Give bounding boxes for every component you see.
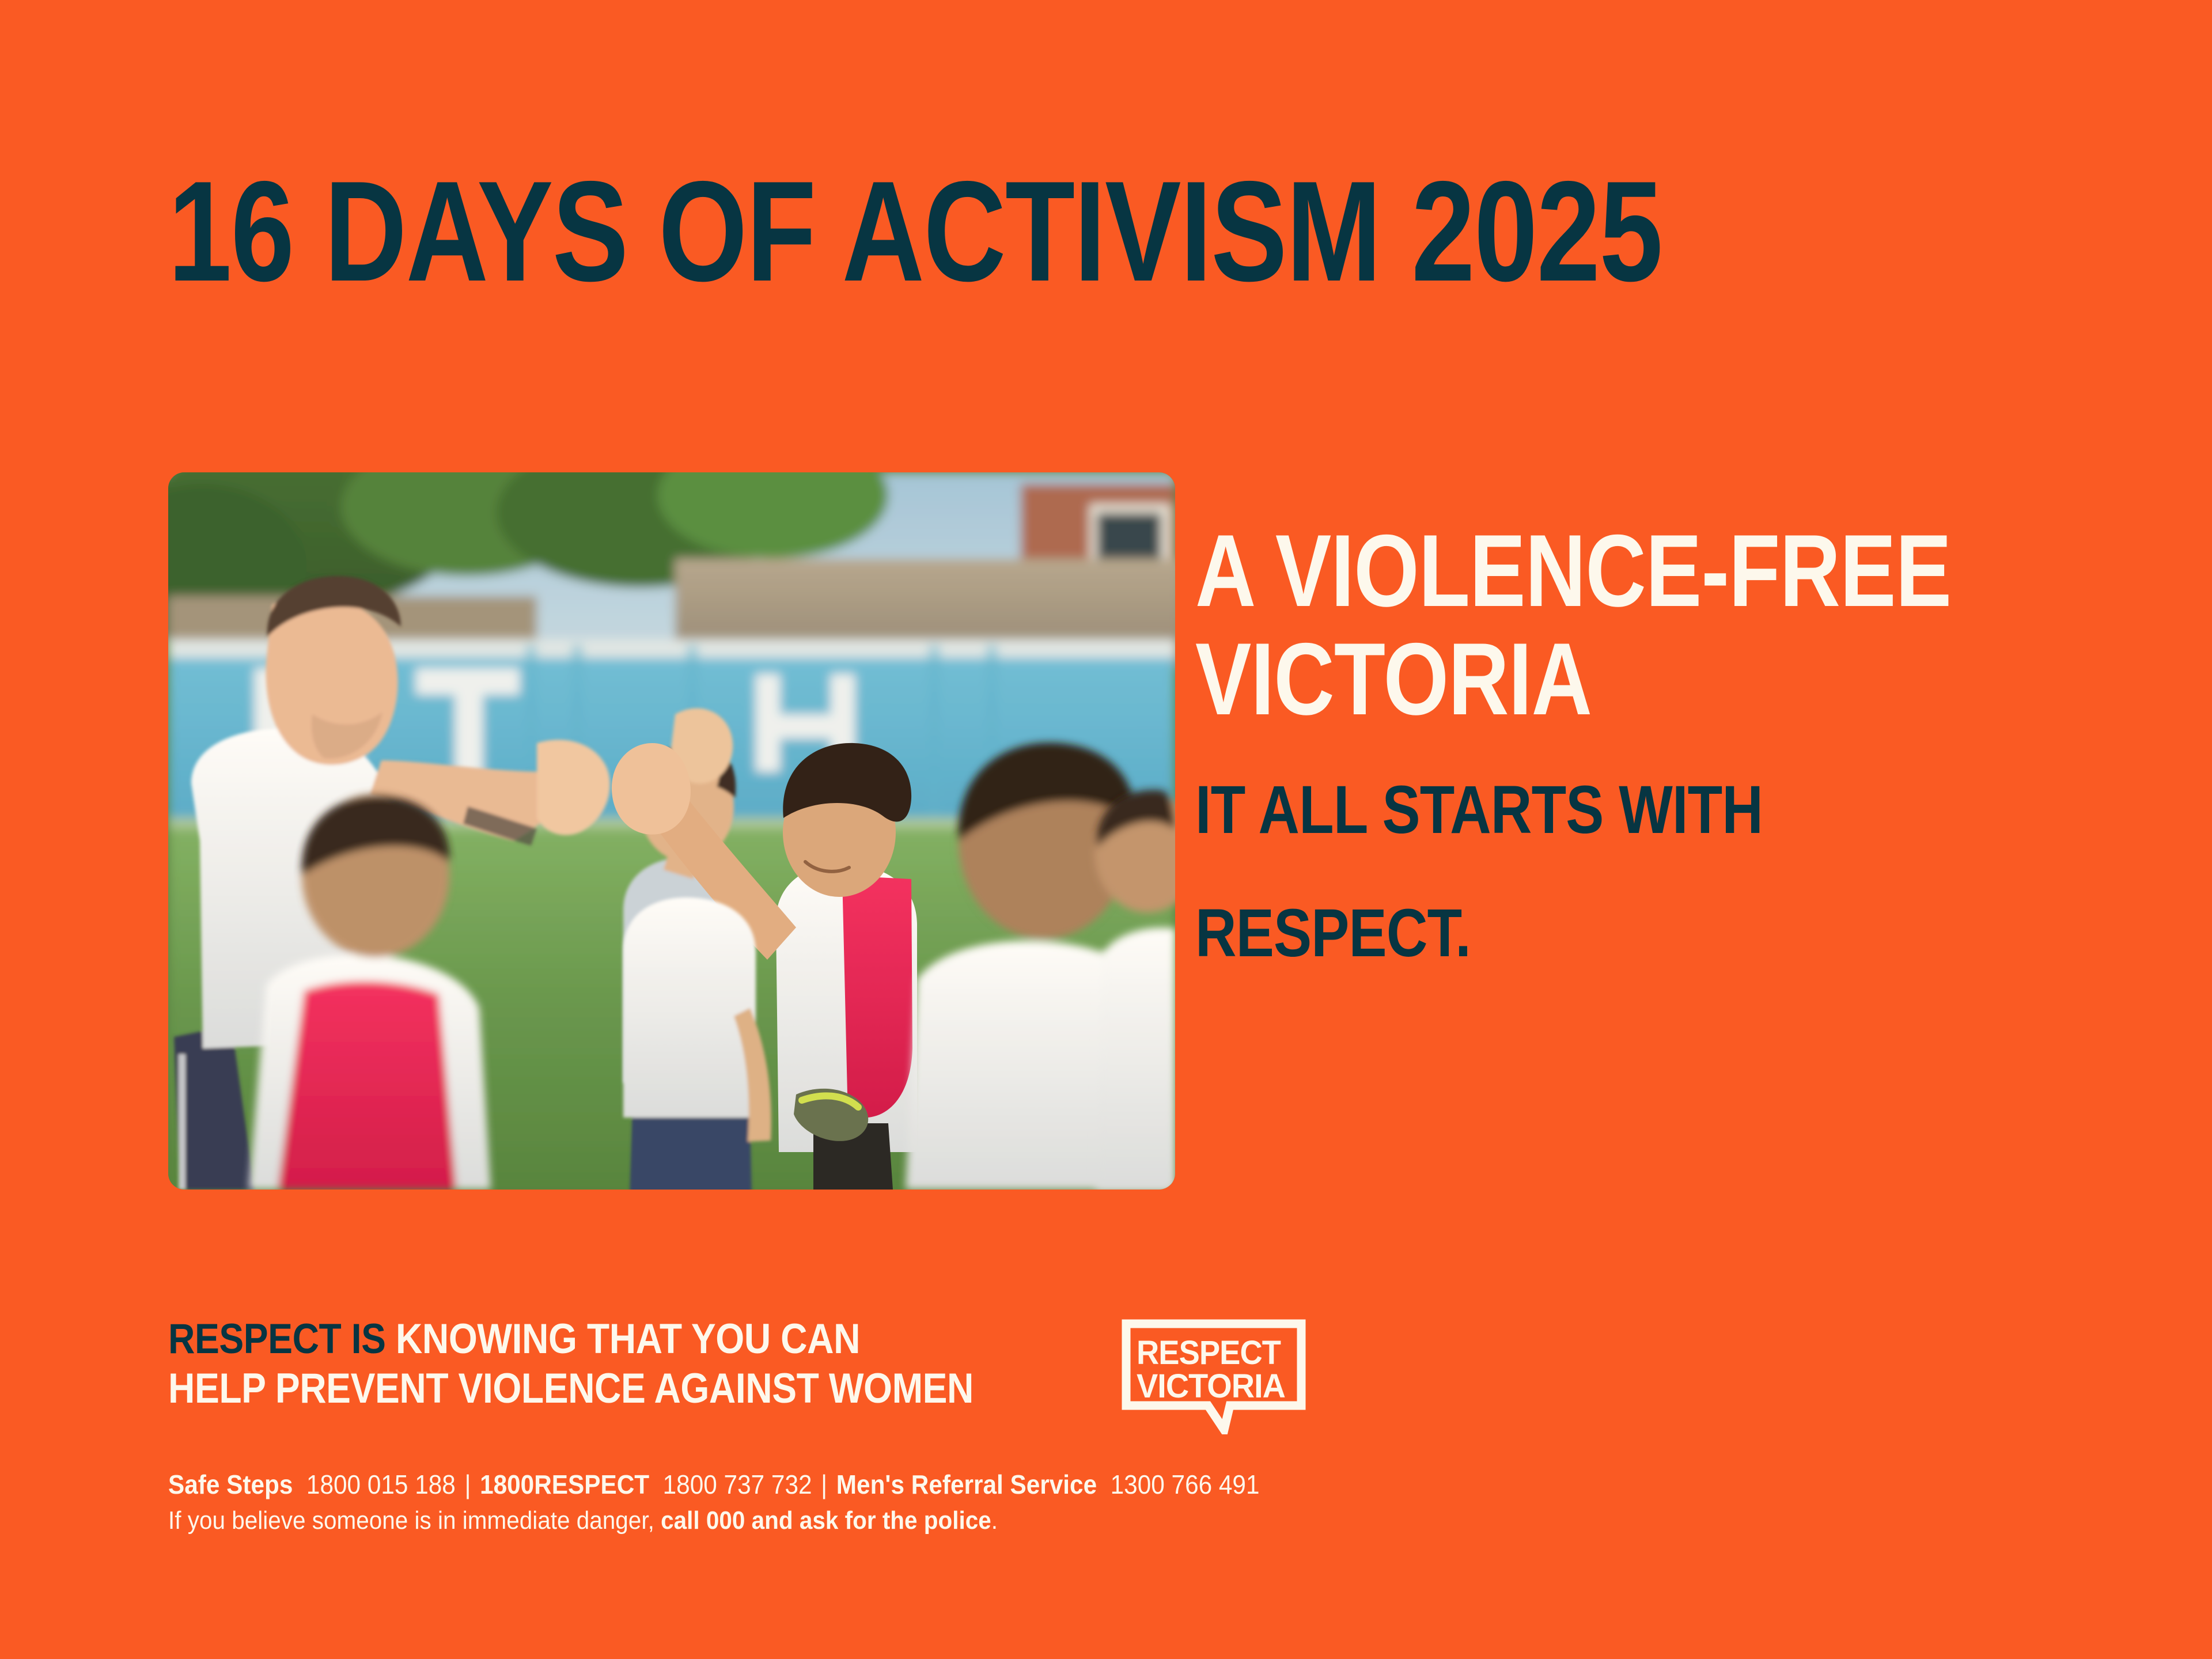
message-block: A VIOLENCE-FREE VICTORIA IT ALL STARTS W…: [1195, 518, 2175, 967]
footer-emergency-line: If you believe someone is in immediate d…: [168, 1504, 1493, 1537]
emergency-bold: call 000 and ask for the police: [661, 1506, 991, 1535]
strapline-lead: RESPECT IS: [168, 1316, 386, 1362]
service-name-1800respect: 1800RESPECT: [480, 1469, 649, 1499]
campaign-photo: [168, 472, 1175, 1190]
footer-services-line: Safe Steps 1800 015 188|1800RESPECT 1800…: [168, 1468, 1493, 1502]
footer-separator-1: |: [456, 1468, 480, 1502]
page-title: 16 DAYS OF ACTIVISM 2025: [168, 173, 1662, 290]
service-name-safe-steps: Safe Steps: [168, 1469, 293, 1499]
poster-canvas: 16 DAYS OF ACTIVISM 2025: [0, 0, 2212, 1659]
message-cream-line-1: A VIOLENCE-FREE: [1195, 518, 1998, 623]
message-dark-line-1: IT ALL STARTS WITH: [1195, 776, 2018, 844]
logo-line-2: VICTORIA: [1137, 1368, 1285, 1405]
logo-line-1: RESPECT: [1137, 1334, 1281, 1372]
strapline: RESPECT IS KNOWING THAT YOU CAN HELP PRE…: [168, 1315, 1030, 1414]
emergency-prefix: If you believe someone is in immediate d…: [168, 1506, 661, 1535]
emergency-suffix: .: [991, 1506, 998, 1535]
strapline-line-2: HELP PREVENT VIOLENCE AGAINST WOMEN: [168, 1364, 1030, 1414]
respect-victoria-logo[interactable]: RESPECT VICTORIA: [1122, 1319, 1320, 1434]
strapline-rest-1-text: KNOWING THAT YOU CAN: [396, 1316, 860, 1362]
speech-bubble-logo-icon: RESPECT VICTORIA: [1122, 1319, 1320, 1434]
message-cream-line-2: VICTORIA: [1195, 627, 1998, 732]
service-number-mens-referral: 1300 766 491: [1111, 1469, 1260, 1499]
strapline-line-1: RESPECT IS KNOWING THAT YOU CAN: [168, 1315, 1030, 1364]
service-number-1800respect: 1800 737 732: [663, 1469, 812, 1499]
photo-illustration: [168, 472, 1175, 1190]
service-number-safe-steps: 1800 015 188: [306, 1469, 456, 1499]
strapline-rest-1: [386, 1316, 396, 1362]
service-name-mens-referral: Men's Referral Service: [836, 1469, 1097, 1499]
message-dark-line-2: RESPECT.: [1195, 899, 2018, 967]
footer-separator-2: |: [812, 1468, 836, 1502]
footer: Safe Steps 1800 015 188|1800RESPECT 1800…: [168, 1468, 1493, 1537]
